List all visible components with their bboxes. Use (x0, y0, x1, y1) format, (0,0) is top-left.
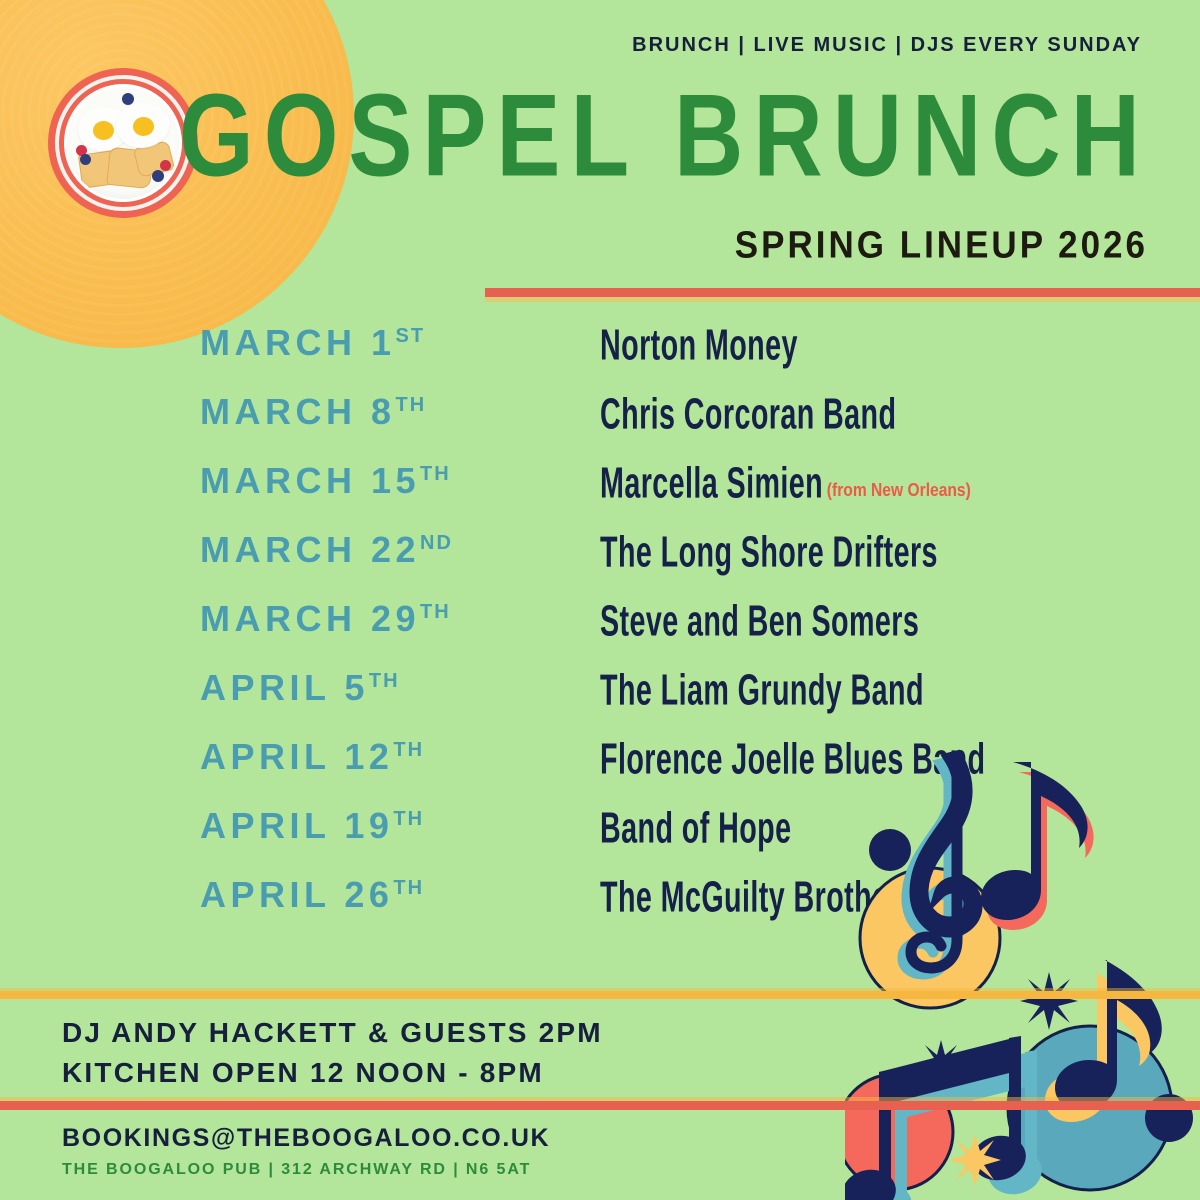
blueberry (80, 154, 91, 165)
subtitle: SPRING LINEUP 2026 (735, 224, 1148, 267)
artist-name: Chris Corcoran Band (600, 390, 896, 439)
kitchen-line: KITCHEN OPEN 12 NOON - 8PM (62, 1053, 603, 1093)
date-month: MARCH (200, 391, 356, 432)
date-day: 12 (344, 736, 393, 777)
lineup-date: APRIL 26TH (200, 877, 424, 913)
raspberry (76, 145, 87, 156)
lineup-artist: Marcella Simien(from New Orleans) (600, 461, 963, 505)
artist-name: The Liam Grundy Band (600, 666, 924, 715)
date-day: 22 (371, 529, 420, 570)
artist-name: Steve and Ben Somers (600, 597, 919, 646)
lineup-row: MARCH 8TH Chris Corcoran Band (0, 394, 1200, 463)
toast-slice (78, 149, 124, 189)
raspberry (160, 160, 171, 171)
dj-info-block: DJ ANDY HACKETT & GUESTS 2PM KITCHEN OPE… (62, 1013, 603, 1093)
date-month: APRIL (200, 805, 330, 846)
lineup-date: APRIL 5TH (200, 670, 400, 706)
divider-orange (0, 991, 1200, 999)
date-day: 1 (371, 322, 396, 363)
date-day: 19 (344, 805, 393, 846)
artist-name: Marcella Simien (600, 459, 823, 508)
lineup-row: MARCH 15TH Marcella Simien(from New Orle… (0, 463, 1200, 532)
artist-name: The Long Shore Drifters (600, 528, 938, 577)
date-month: MARCH (200, 460, 356, 501)
booking-email[interactable]: BOOKINGS@THEBOOGALOO.CO.UK (62, 1124, 550, 1153)
lineup-artist: Band of Hope (600, 806, 791, 850)
breakfast-plate-icon (48, 68, 198, 218)
venue-address: THE BOOGALOO PUB | 312 ARCHWAY RD | N6 5… (62, 1161, 531, 1179)
divider-red-top (485, 288, 1200, 297)
lineup-artist: The Long Shore Drifters (600, 530, 938, 574)
date-month: APRIL (200, 736, 330, 777)
plate-surface (64, 84, 182, 202)
egg-yolk (93, 121, 114, 140)
divider-red-bottom (0, 1101, 1200, 1110)
eighth-note-icon (981, 762, 1094, 930)
artist-name: Norton Money (600, 321, 798, 370)
date-month: APRIL (200, 874, 330, 915)
artist-name: Band of Hope (600, 804, 791, 853)
lineup-date: APRIL 19TH (200, 808, 424, 844)
lineup-row: MARCH 22ND The Long Shore Drifters (0, 532, 1200, 601)
date-month: MARCH (200, 529, 356, 570)
date-day: 26 (344, 874, 393, 915)
date-ordinal: TH (420, 601, 451, 623)
lineup-date: MARCH 15TH (200, 463, 451, 499)
navy-dot-shape (869, 829, 911, 871)
blueberry (152, 170, 164, 182)
egg-yolk (133, 117, 154, 136)
music-notes-cluster (845, 740, 1200, 1200)
date-ordinal: ND (420, 532, 453, 554)
date-ordinal: TH (369, 670, 400, 692)
date-ordinal: TH (393, 877, 424, 899)
date-day: 8 (371, 391, 396, 432)
artist-note: (from New Orleans) (827, 481, 971, 499)
poster-canvas: BRUNCH | LIVE MUSIC | DJS EVERY SUNDAY G… (0, 0, 1200, 1200)
date-day: 29 (371, 598, 420, 639)
dj-line: DJ ANDY HACKETT & GUESTS 2PM (62, 1013, 603, 1053)
date-day: 15 (371, 460, 420, 501)
lineup-date: APRIL 12TH (200, 739, 424, 775)
lineup-row: MARCH 1ST Norton Money (0, 325, 1200, 394)
blueberry (122, 93, 134, 105)
date-ordinal: TH (393, 808, 424, 830)
lineup-date: MARCH 8TH (200, 394, 426, 430)
fried-egg (78, 107, 130, 151)
lineup-date: MARCH 1ST (200, 325, 425, 361)
lineup-date: MARCH 22ND (200, 532, 453, 568)
lineup-date: MARCH 29TH (200, 601, 451, 637)
date-ordinal: TH (393, 739, 424, 761)
date-month: MARCH (200, 322, 356, 363)
lineup-row: APRIL 5TH The Liam Grundy Band (0, 670, 1200, 739)
lineup-artist: Norton Money (600, 323, 798, 367)
date-ordinal: TH (396, 394, 427, 416)
toast-slice (133, 140, 175, 178)
date-month: MARCH (200, 598, 356, 639)
date-day: 5 (344, 667, 369, 708)
fried-egg (116, 103, 170, 148)
tagline: BRUNCH | LIVE MUSIC | DJS EVERY SUNDAY (632, 34, 1142, 57)
date-ordinal: ST (396, 325, 426, 347)
star-icon (1020, 972, 1078, 1030)
lineup-row: MARCH 29TH Steve and Ben Somers (0, 601, 1200, 670)
lineup-artist: Steve and Ben Somers (600, 599, 919, 643)
lineup-artist: Chris Corcoran Band (600, 392, 896, 436)
lineup-artist: The Liam Grundy Band (600, 668, 924, 712)
date-month: APRIL (200, 667, 330, 708)
page-title: GOSPEL BRUNCH (179, 78, 1150, 195)
date-ordinal: TH (420, 463, 451, 485)
toast-slice (106, 147, 154, 189)
